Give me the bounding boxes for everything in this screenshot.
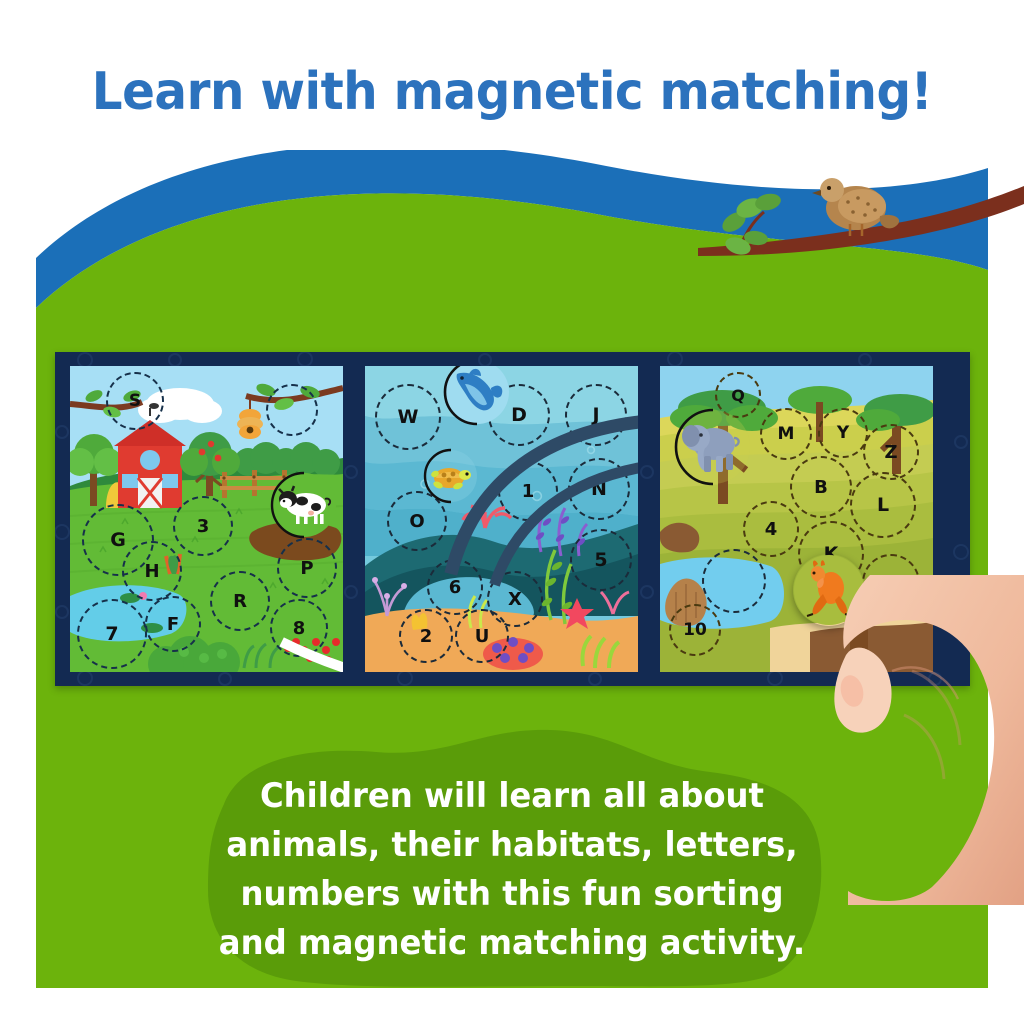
slot-S[interactable]: S bbox=[106, 372, 164, 430]
slot-label: B bbox=[814, 477, 828, 498]
slot-Y[interactable]: Y bbox=[818, 408, 868, 458]
slot-waterhole-empty[interactable] bbox=[702, 549, 766, 613]
bottom-copy-line-4: and magnetic matching activity. bbox=[168, 919, 856, 968]
slot-label: 3 bbox=[197, 516, 210, 537]
slot-10[interactable]: 10 bbox=[669, 604, 721, 656]
elephant-magnet[interactable] bbox=[674, 408, 752, 486]
slot-3[interactable]: 3 bbox=[173, 496, 233, 556]
slot-7[interactable]: 7 bbox=[77, 599, 147, 669]
slot-label: Y bbox=[837, 423, 849, 443]
slot-L[interactable]: L bbox=[850, 472, 916, 538]
slot-label: R bbox=[233, 591, 247, 612]
slot-4[interactable]: 4 bbox=[743, 501, 799, 557]
slot-label: O bbox=[409, 511, 424, 532]
promo-image: Learn with magnetic matching! bbox=[0, 0, 1024, 1024]
bottom-copy-line-1: Children will learn all about bbox=[168, 772, 856, 821]
slot-R[interactable]: R bbox=[210, 571, 270, 631]
slot-label: M bbox=[778, 424, 795, 444]
slot-B[interactable]: B bbox=[790, 456, 852, 518]
branch-with-bird-decoration bbox=[690, 160, 1024, 260]
page-title: Learn with magnetic matching! bbox=[36, 62, 988, 122]
slot-label: 4 bbox=[765, 519, 778, 540]
slot-label: W bbox=[398, 406, 419, 428]
slot-label: G bbox=[110, 529, 126, 551]
slot-label: Z bbox=[884, 442, 897, 463]
slot-label: S bbox=[129, 391, 141, 411]
slot-H[interactable]: H bbox=[122, 541, 182, 601]
slot-label: 10 bbox=[683, 620, 707, 640]
slot-F[interactable]: F bbox=[145, 596, 201, 652]
motion-lines bbox=[429, 366, 638, 656]
panel-ocean[interactable]: W D J 1 N O 5 6 X 2 U bbox=[365, 366, 638, 672]
slot-label: H bbox=[144, 561, 159, 582]
slot-Z[interactable]: Z bbox=[863, 424, 919, 480]
slot-label: Q bbox=[731, 386, 745, 405]
slot-label: F bbox=[167, 614, 179, 635]
slot-beehive-empty[interactable] bbox=[266, 384, 318, 436]
motion-lines bbox=[266, 524, 343, 672]
slot-M[interactable]: M bbox=[760, 408, 812, 460]
bottom-copy: Children will learn all about animals, t… bbox=[168, 772, 856, 968]
slot-label: L bbox=[877, 494, 889, 516]
panel-farm[interactable]: S G 3 H P R 8 7 F bbox=[70, 366, 343, 672]
slot-label: 7 bbox=[105, 623, 118, 645]
quail-bird-icon bbox=[812, 178, 899, 236]
bottom-copy-line-2: animals, their habitats, letters, bbox=[168, 821, 856, 870]
bottom-copy-line-3: numbers with this fun sorting bbox=[168, 870, 856, 919]
turtle-magnet[interactable] bbox=[423, 448, 479, 504]
beehive-icon bbox=[237, 409, 263, 439]
